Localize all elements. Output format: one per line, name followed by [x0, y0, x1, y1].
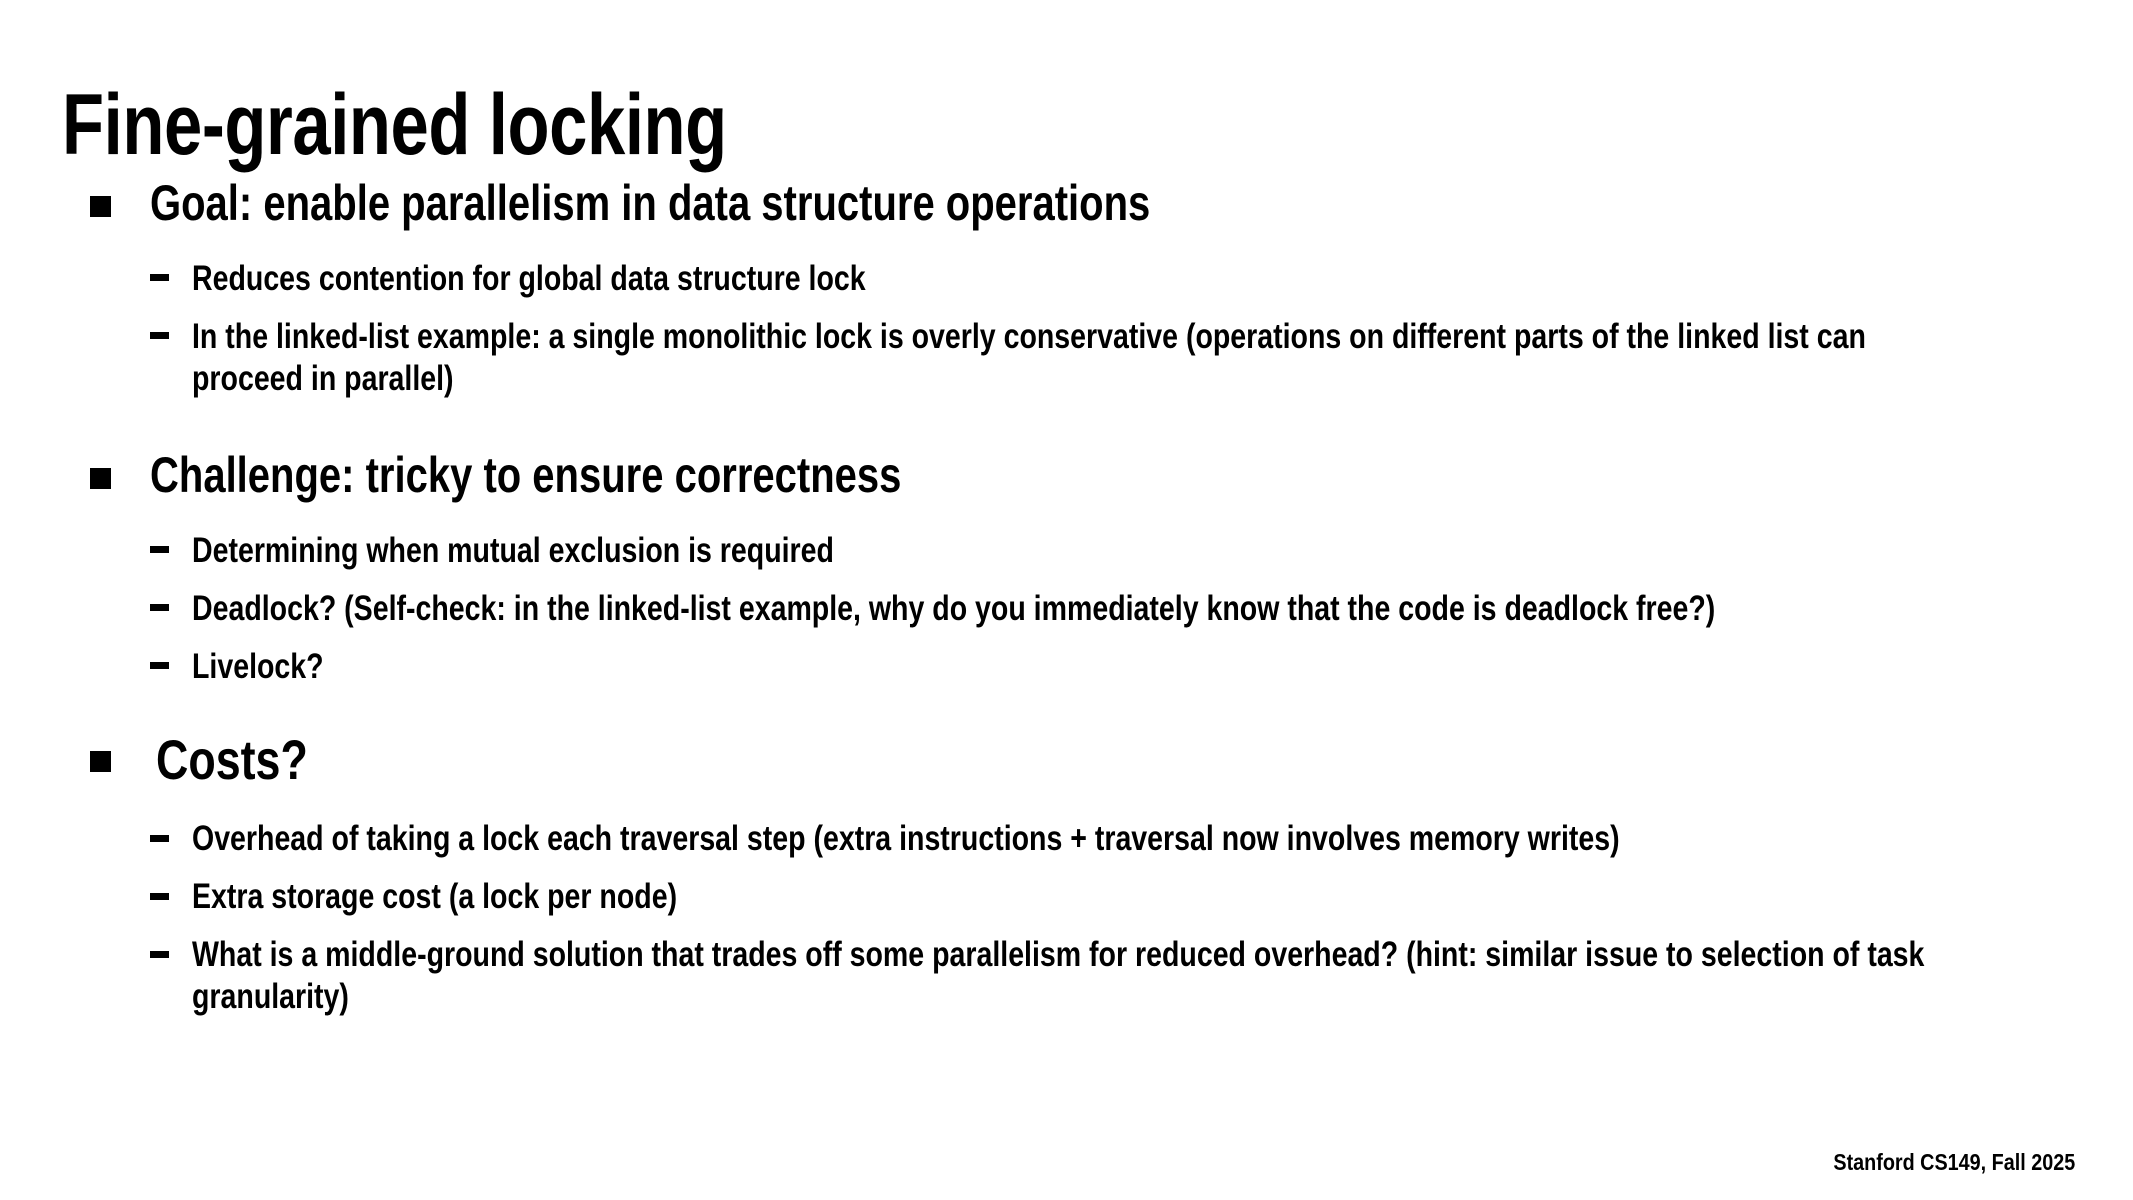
bullet-level2-extra-storage-cost: Extra storage cost (a lock per node) — [0, 876, 2030, 918]
bullet-level2-label: Overhead of taking a lock each traversal… — [192, 818, 1930, 860]
bullet-level1-label: Costs? — [156, 730, 308, 790]
dash-bullet-icon — [150, 604, 169, 611]
bullet-level2-label: Determining when mutual exclusion is req… — [192, 530, 1930, 572]
bullet-level1-costs: Costs? — [0, 730, 2133, 790]
bullet-level2-label: Livelock? — [192, 646, 1930, 688]
slide-canvas: Fine-grained locking Goal: enable parall… — [0, 0, 2133, 1200]
dash-bullet-icon — [150, 893, 169, 900]
dash-bullet-icon — [150, 546, 169, 553]
page-title-text: Fine-grained locking — [62, 77, 727, 173]
bullet-level2-reduces-contention: Reduces contention for global data struc… — [0, 258, 2030, 300]
spacer — [0, 688, 2133, 730]
spacer — [0, 790, 2133, 818]
bullet-level1-goal: Goal: enable parallelism in data structu… — [0, 176, 2133, 230]
bullet-level2-middle-ground-solution: What is a middle-ground solution that tr… — [0, 934, 2030, 1018]
page-title: Fine-grained locking — [62, 80, 727, 170]
bullet-level2-label: Extra storage cost (a lock per node) — [192, 876, 1930, 918]
bullet-level2-overhead-lock-traversal: Overhead of taking a lock each traversal… — [0, 818, 2030, 860]
dash-bullet-icon — [150, 951, 169, 958]
square-bullet-icon — [90, 751, 111, 772]
dash-bullet-icon — [150, 274, 169, 281]
bullet-level1-challenge: Challenge: tricky to ensure correctness — [0, 448, 2133, 502]
bullet-level2-label: Reduces contention for global data struc… — [192, 258, 1930, 300]
slide-footer-text: Stanford CS149, Fall 2025 — [1833, 1149, 2075, 1176]
spacer — [0, 502, 2133, 530]
dash-bullet-icon — [150, 332, 169, 339]
bullet-level2-livelock: Livelock? — [0, 646, 2030, 688]
square-bullet-icon — [90, 468, 111, 489]
slide-footer: Stanford CS149, Fall 2025 — [1794, 1149, 2075, 1176]
bullet-level2-deadlock: Deadlock? (Self-check: in the linked-lis… — [0, 588, 2030, 630]
bullet-level2-label: What is a middle-ground solution that tr… — [192, 934, 1930, 1018]
spacer — [0, 572, 2133, 588]
dash-bullet-icon — [150, 835, 169, 842]
dash-bullet-icon — [150, 662, 169, 669]
bullet-level2-linked-list-example: In the linked-list example: a single mon… — [0, 316, 2030, 400]
square-bullet-icon — [90, 196, 111, 217]
spacer — [0, 918, 2133, 934]
spacer — [0, 400, 2133, 448]
bullet-level1-label: Challenge: tricky to ensure correctness — [150, 448, 901, 502]
bullet-level1-label: Goal: enable parallelism in data structu… — [150, 176, 1150, 230]
spacer — [0, 230, 2133, 258]
bullet-level2-label: Deadlock? (Self-check: in the linked-lis… — [192, 588, 1930, 630]
spacer — [0, 860, 2133, 876]
spacer — [0, 630, 2133, 646]
slide-body: Goal: enable parallelism in data structu… — [0, 176, 2133, 1018]
spacer — [0, 300, 2133, 316]
bullet-level2-determining-mutual-exclusion: Determining when mutual exclusion is req… — [0, 530, 2030, 572]
bullet-level2-label: In the linked-list example: a single mon… — [192, 316, 1930, 400]
